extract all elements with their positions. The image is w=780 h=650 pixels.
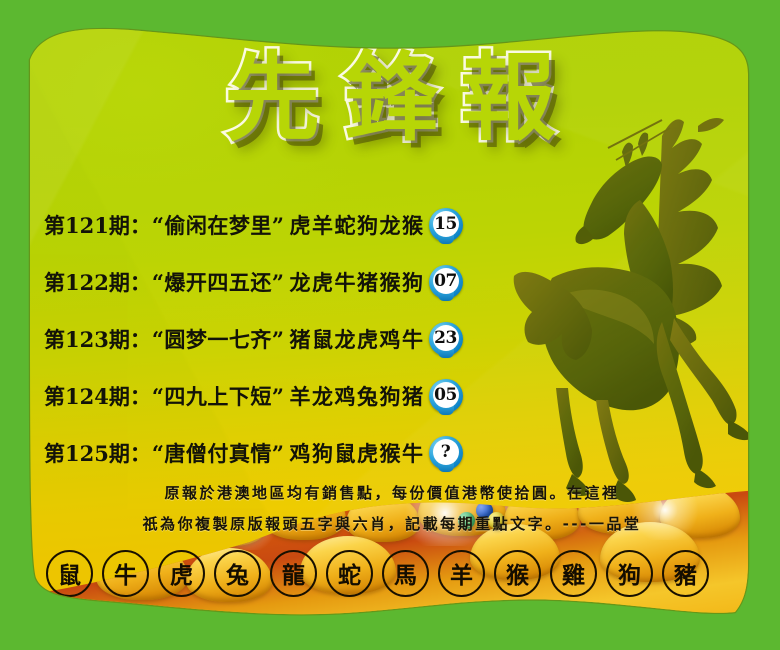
- forecast-row: 第122期： “爆开四五还” 龙虎牛猪猴狗 07: [44, 253, 564, 310]
- forecast-row: 第125期： “唐僧付真情” 鸡狗鼠虎猴牛 ?: [44, 424, 564, 481]
- lucky-number-badge: 15: [429, 208, 463, 242]
- badge-number: 15: [433, 211, 459, 237]
- forecast-phrase: “偷闲在梦里”: [152, 210, 285, 240]
- zodiac-seal-rabbit: 兔: [214, 550, 261, 597]
- forecast-phrase: “圆梦一七齐”: [152, 324, 285, 354]
- forecast-zodiacs: 羊龙鸡兔狗猪: [290, 381, 425, 411]
- forecast-row: 第124期： “四九上下短” 羊龙鸡兔狗猪 05: [44, 367, 564, 424]
- zodiac-seal-row: 鼠 牛 虎 兔 龍 蛇 馬 羊 猴 雞 狗 豬: [46, 549, 746, 597]
- issue-label: 第122期：: [44, 267, 151, 297]
- forecast-phrase: “唐僧付真情”: [152, 438, 285, 468]
- footer-notice: 原報於港澳地區均有銷售點，每份價值港幣使拾圓。在這裡 祇為你複製原版報頭五字與六…: [50, 478, 734, 540]
- zodiac-seal-dog: 狗: [606, 550, 653, 597]
- issue-label: 第125期：: [44, 438, 151, 468]
- forecast-phrase: “爆开四五还”: [152, 267, 285, 297]
- zodiac-seal-rooster: 雞: [550, 550, 597, 597]
- newspaper-poster: 先鋒報 第121期： “偷闲在梦里” 虎羊蛇狗龙猴 15 第122期： “爆开四…: [0, 0, 780, 650]
- zodiac-seal-rat: 鼠: [46, 550, 93, 597]
- forecast-list: 第121期： “偷闲在梦里” 虎羊蛇狗龙猴 15 第122期： “爆开四五还” …: [44, 196, 564, 481]
- issue-label: 第124期：: [44, 381, 151, 411]
- notice-line-1: 原報於港澳地區均有銷售點，每份價值港幣使拾圓。在這裡: [50, 478, 734, 509]
- zodiac-seal-tiger: 虎: [158, 550, 205, 597]
- forecast-row: 第121期： “偷闲在梦里” 虎羊蛇狗龙猴 15: [44, 196, 564, 253]
- zodiac-seal-dragon: 龍: [270, 550, 317, 597]
- lucky-number-badge: 05: [429, 379, 463, 413]
- badge-number: 23: [433, 325, 459, 351]
- lucky-number-badge: 07: [429, 265, 463, 299]
- lucky-number-badge: ?: [429, 436, 463, 470]
- forecast-zodiacs: 鸡狗鼠虎猴牛: [290, 438, 425, 468]
- zodiac-seal-goat: 羊: [438, 550, 485, 597]
- zodiac-seal-ox: 牛: [102, 550, 149, 597]
- forecast-zodiacs: 虎羊蛇狗龙猴: [290, 210, 425, 240]
- issue-label: 第121期：: [44, 210, 151, 240]
- forecast-phrase: “四九上下短”: [152, 381, 285, 411]
- notice-line-2: 祇為你複製原版報頭五字與六肖，記載每期重點文字。---一品堂: [50, 509, 734, 540]
- badge-number: 07: [433, 268, 459, 294]
- zodiac-seal-snake: 蛇: [326, 550, 373, 597]
- forecast-zodiacs: 猪鼠龙虎鸡牛: [290, 324, 425, 354]
- forecast-row: 第123期： “圆梦一七齐” 猪鼠龙虎鸡牛 23: [44, 310, 564, 367]
- zodiac-seal-pig: 豬: [662, 550, 709, 597]
- badge-number: ?: [433, 439, 459, 465]
- zodiac-seal-monkey: 猴: [494, 550, 541, 597]
- badge-number: 05: [433, 382, 459, 408]
- issue-label: 第123期：: [44, 324, 151, 354]
- lucky-number-badge: 23: [429, 322, 463, 356]
- card-content: 先鋒報 第121期： “偷闲在梦里” 虎羊蛇狗龙猴 15 第122期： “爆开四…: [0, 0, 780, 650]
- zodiac-seal-horse: 馬: [382, 550, 429, 597]
- forecast-zodiacs: 龙虎牛猪猴狗: [290, 267, 425, 297]
